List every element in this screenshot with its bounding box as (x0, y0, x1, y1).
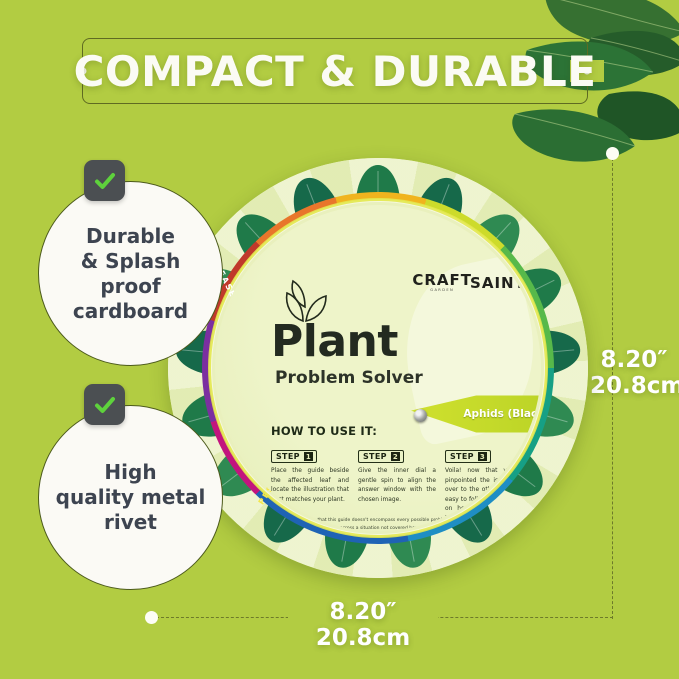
metal-rivet (414, 409, 427, 422)
callout-rivet: High quality metal rivet (38, 405, 223, 590)
step-1-header: STEP1 (271, 450, 317, 463)
wheel-title: Plant (271, 320, 398, 364)
disclaimer-text: It's important to note that this guide d… (263, 517, 495, 531)
check-icon-glyph (93, 169, 117, 193)
page-title: COMPACT & DURABLE (83, 39, 587, 103)
brand-tagline: GARDEN (430, 289, 454, 293)
dimension-label-width: 8.20″ 20.8cm (288, 598, 438, 654)
step-2-number: 2 (391, 452, 400, 461)
callout-durable-text: Durable & Splash proof cardboard (39, 224, 222, 324)
check-icon (84, 160, 125, 201)
brand-word-saints: SAINTS (470, 276, 538, 291)
wheel-subtitle: Problem Solver (275, 368, 423, 388)
step-2-body: Give the inner dial a gentle spin to ali… (358, 467, 436, 505)
plant-problem-solver-wheel[interactable]: DISEASES PESTS CRAFT GARDEN SAINTS (168, 158, 588, 578)
dimension-endpoint-left (145, 611, 158, 624)
title-frame: COMPACT & DURABLE (82, 38, 588, 104)
dimension-label-height: 8.20″ 20.8cm (590, 348, 678, 400)
step-2: STEP2Give the inner dial a gentle spin t… (358, 444, 436, 524)
step-1: STEP1Place the guide beside the affected… (271, 444, 349, 524)
how-to-use-section: HOW TO USE IT: STEP1Place the guide besi… (271, 424, 523, 524)
dimension-width-cm: 20.8cm (294, 626, 432, 652)
step-list: STEP1Place the guide beside the affected… (271, 444, 523, 524)
step-2-label: STEP (363, 452, 387, 461)
step-1-label: STEP (276, 452, 300, 461)
callout-rivet-text: High quality metal rivet (46, 460, 216, 535)
check-icon (84, 384, 125, 425)
how-to-use-heading: HOW TO USE IT: (271, 424, 523, 438)
dimension-endpoint-top (606, 147, 619, 160)
step-1-number: 1 (304, 452, 313, 461)
step-2-header: STEP2 (358, 450, 404, 463)
step-1-body: Place the guide beside the affected leaf… (271, 467, 349, 505)
step-3-header: STEP3 (445, 450, 491, 463)
step-3-number: 3 (478, 452, 487, 461)
brand-word-craft: CRAFT (412, 273, 472, 288)
step-3-body: Voila! now that you've pinpointed the is… (445, 467, 523, 524)
wheel-face: CRAFT GARDEN SAINTS Plant Problem Solver… (215, 205, 541, 531)
brand-logo: CRAFT GARDEN SAINTS (421, 273, 529, 293)
infographic-canvas: COMPACT & DURABLE 8.20″ 20.8cm 8.20″ 20.… (0, 0, 679, 679)
step-3-label: STEP (450, 452, 474, 461)
check-icon-glyph (93, 393, 117, 417)
callout-durable: Durable & Splash proof cardboard (38, 181, 223, 366)
step-3: STEP3Voila! now that you've pinpointed t… (445, 444, 523, 524)
dimension-height-inches: 8.20″ (590, 348, 678, 374)
dimension-width-inches: 8.20″ (294, 600, 432, 626)
dimension-height-cm: 20.8cm (590, 374, 678, 400)
